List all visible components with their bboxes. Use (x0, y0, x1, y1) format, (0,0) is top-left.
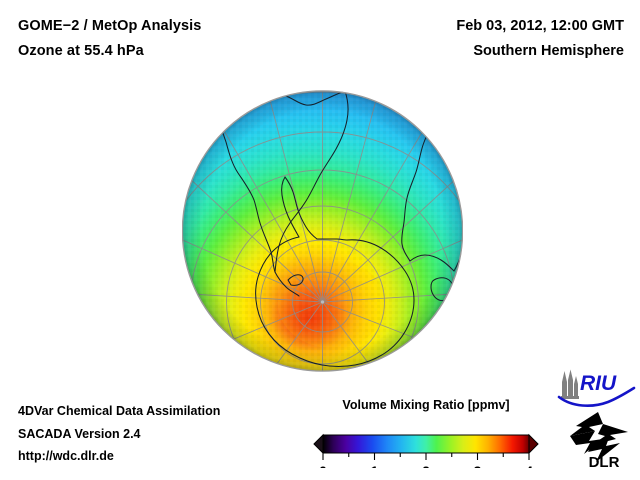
limb-shading (182, 91, 463, 372)
colorbar-under-arrow (314, 435, 323, 453)
colorbar-gradient (323, 435, 529, 453)
footer-credits: 4DVar Chemical Data Assimilation SACADA … (18, 400, 308, 468)
globe-disk (182, 80, 463, 384)
header-right: Feb 03, 2012, 12:00 GMT Southern Hemisph… (324, 14, 624, 64)
colorbar-over-arrow (529, 435, 538, 453)
colorbar-tick-label: 0 (319, 463, 327, 468)
riu-logo: RIU (556, 368, 638, 408)
colorbar-tick-labels: 01234 (319, 463, 533, 468)
riu-tower-icon (561, 370, 579, 400)
colorbar-ticks (323, 453, 529, 460)
version-label: SACADA Version 2.4 (18, 423, 308, 446)
analysis-subtitle: Ozone at 55.4 hPa (18, 39, 348, 64)
website-url[interactable]: http://wdc.dlr.de (18, 445, 308, 468)
dlr-logo: DLR (562, 410, 638, 472)
method-label: 4DVar Chemical Data Assimilation (18, 400, 308, 423)
colorbar: Volume Mixing Ratio [ppmv] 01234 (300, 398, 552, 470)
ozone-globe-map (182, 80, 463, 384)
analysis-title: GOME−2 / MetOp Analysis (18, 14, 348, 39)
hemisphere-label: Southern Hemisphere (324, 39, 624, 64)
riu-wordmark: RIU (580, 372, 617, 395)
colorbar-tick-label: 4 (525, 463, 533, 468)
colorbar-tick-label: 1 (371, 463, 379, 468)
header-left: GOME−2 / MetOp Analysis Ozone at 55.4 hP… (18, 14, 348, 64)
dlr-wordmark: DLR (589, 454, 620, 471)
colorbar-title: Volume Mixing Ratio [ppmv] (300, 398, 552, 412)
colorbar-tick-label: 3 (474, 463, 482, 468)
south-pole-marker (321, 300, 324, 303)
colorbar-tick-label: 2 (422, 463, 430, 468)
timestamp-label: Feb 03, 2012, 12:00 GMT (324, 14, 624, 39)
colorbar-scale: 01234 (300, 420, 552, 468)
